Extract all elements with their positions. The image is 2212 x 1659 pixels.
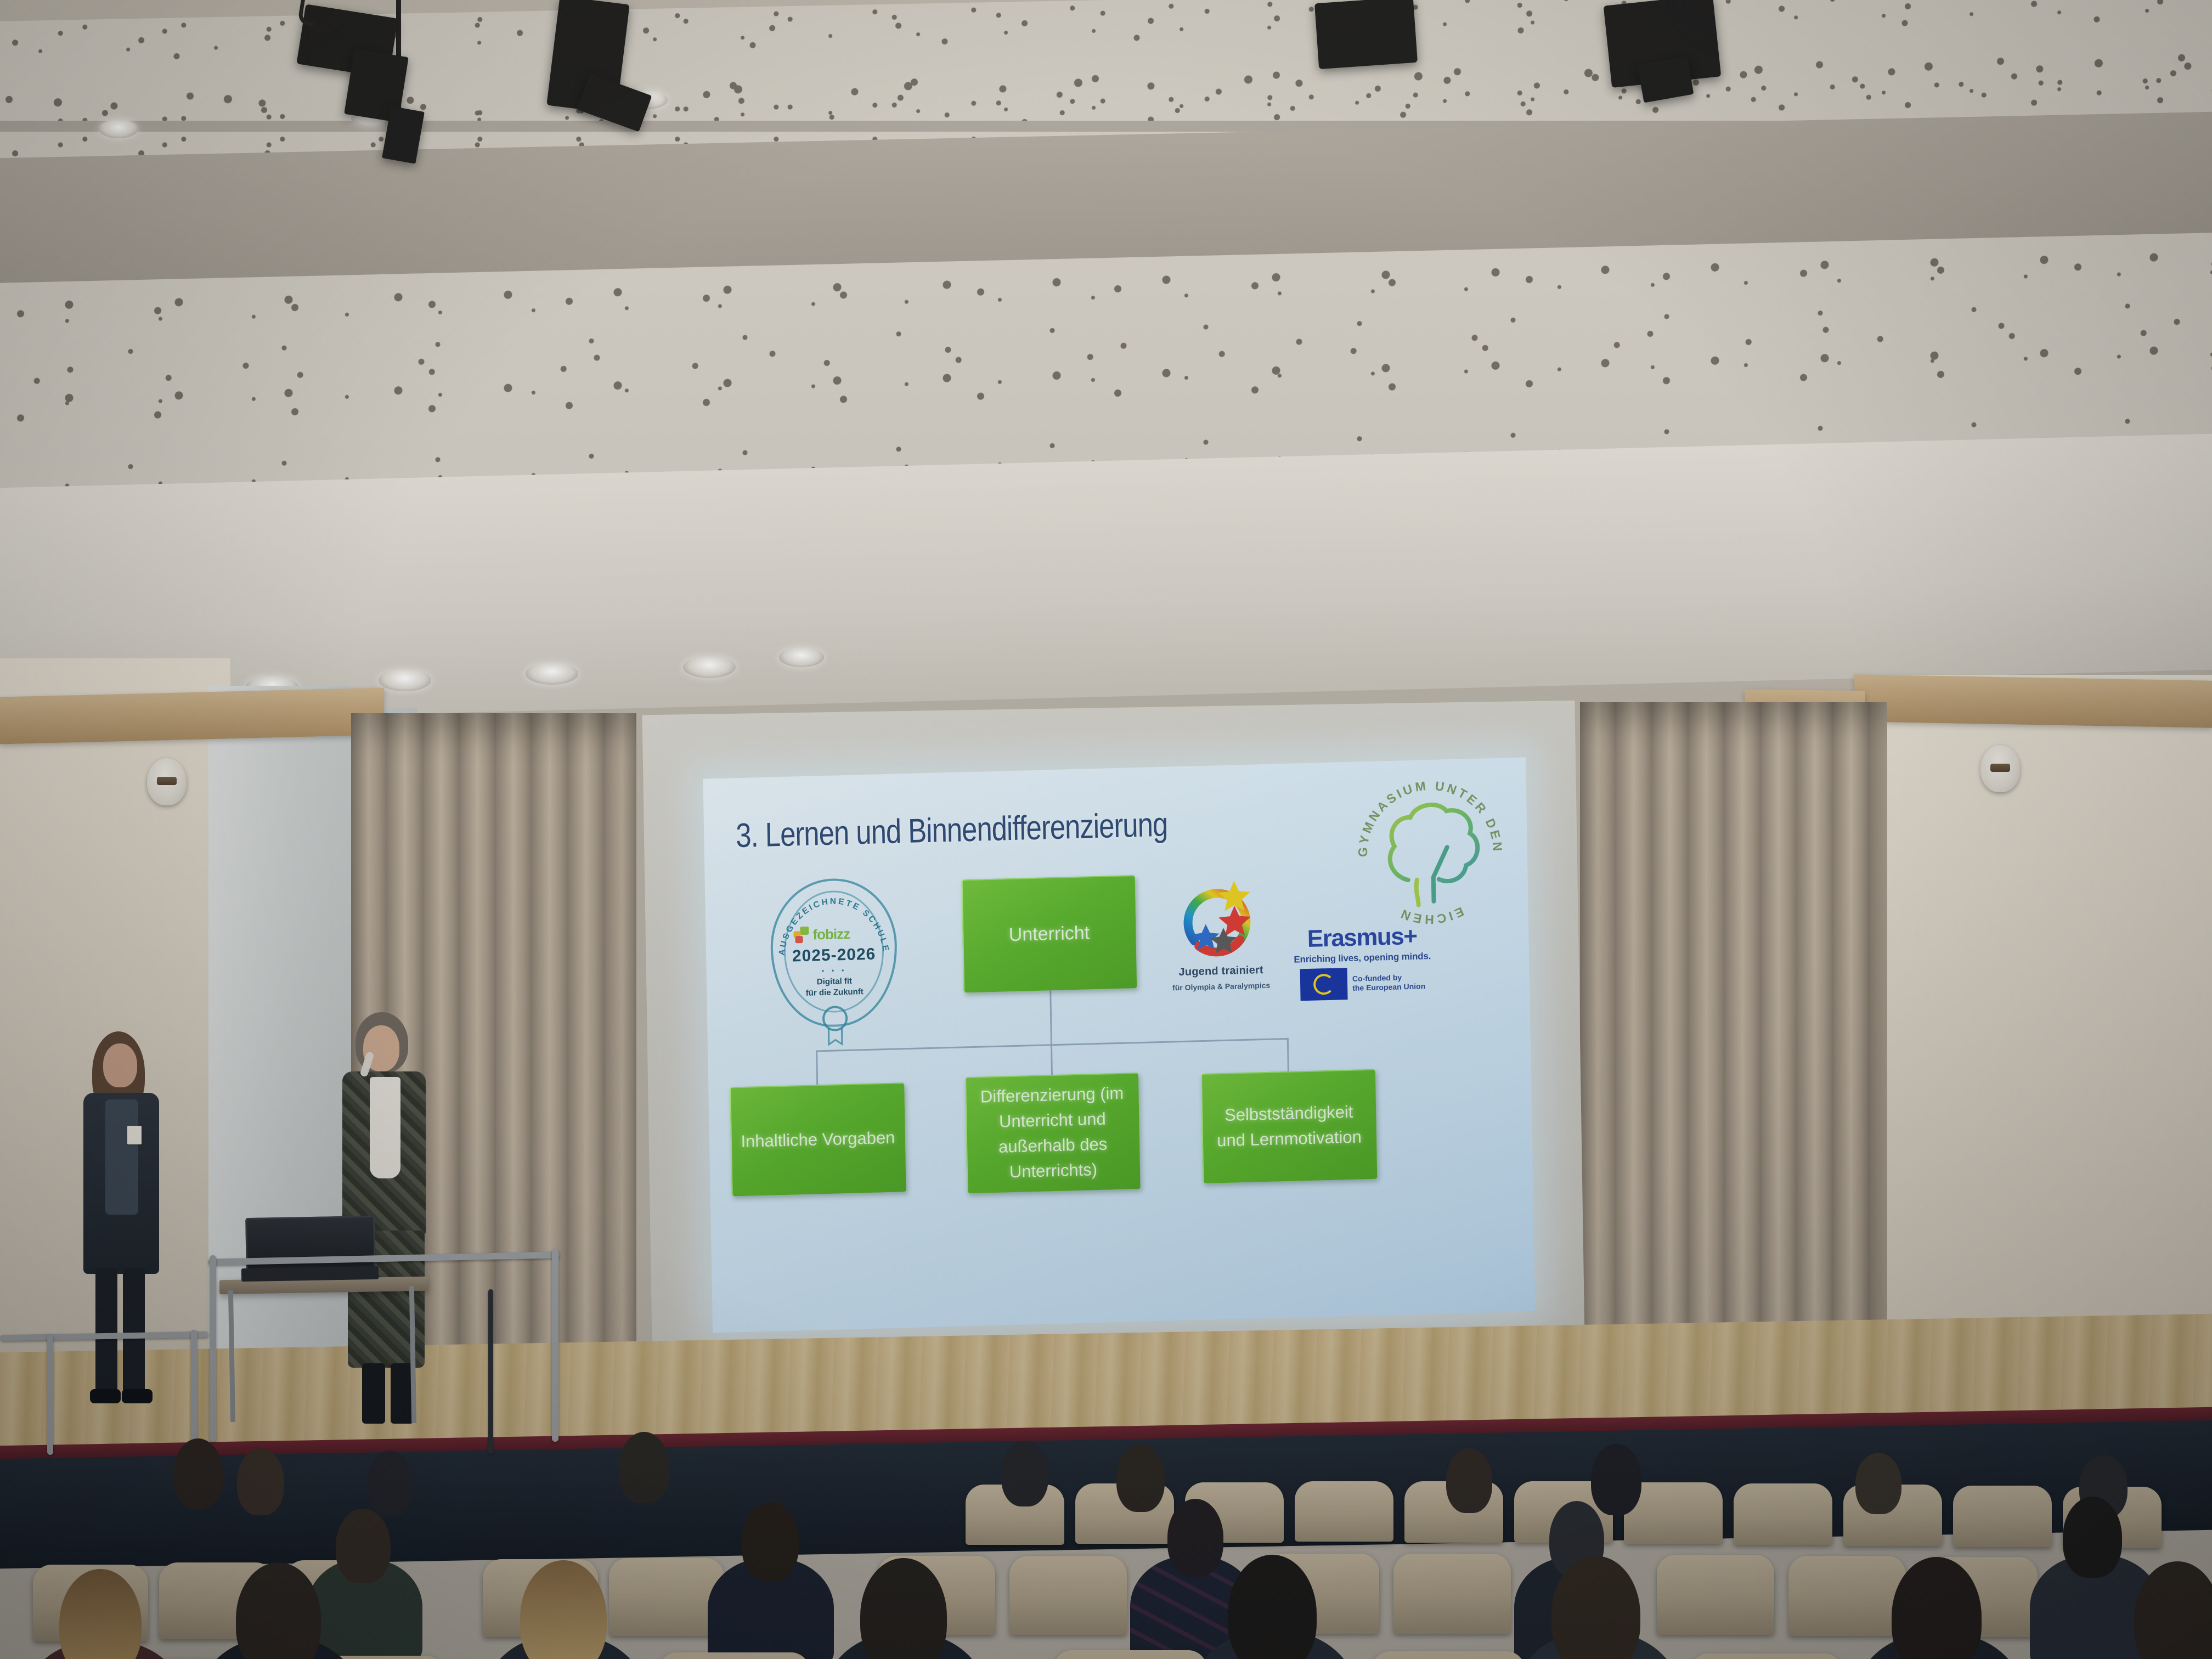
- jugend-trainiert-line2: für Olympia & Paralympics: [1172, 981, 1271, 992]
- stage-curtain-right: [1580, 702, 1887, 1388]
- tree-trunk-icon: [1433, 847, 1448, 901]
- auditorium-presentation-photo: 3. Lernen und Binnendifferenzierung Unte…: [0, 0, 2212, 1659]
- auditorium-seat: [1295, 1481, 1393, 1542]
- downlight-icon: [99, 120, 138, 138]
- box-inhaltliche-vorgaben: Inhaltliche Vorgaben: [730, 1082, 906, 1196]
- laptop-keyboard: [241, 1266, 379, 1282]
- audience-head: [1855, 1453, 1901, 1514]
- presenter-shirt: [105, 1099, 138, 1215]
- presenter-name-badge: [127, 1126, 142, 1144]
- badge-tagline: Digital fit für die Zukunft: [771, 975, 898, 1001]
- tree-branch-icon: [1416, 880, 1418, 905]
- tree-canopy-icon: [1389, 804, 1478, 883]
- connector-drop-right: [1287, 1038, 1289, 1071]
- audience-area: [0, 1404, 2212, 1659]
- school-logo-gymnasium-unter-den-eichen: GYMNASIUM UNTER DEN EICHEN: [1349, 768, 1511, 931]
- erasmus-wordmark: Erasmus+: [1279, 922, 1444, 953]
- audience-head: [742, 1502, 799, 1581]
- audience-head: [1591, 1444, 1641, 1515]
- connector-vertical-root: [1049, 990, 1052, 1045]
- audience-head: [173, 1438, 223, 1509]
- auditorium-seat: [1953, 1486, 2052, 1547]
- jugend-trainiert-swirl-icon: [1170, 873, 1271, 969]
- box-differenzierung: Differenzierung (im Unterricht und außer…: [965, 1073, 1141, 1193]
- eu-line2: the European Union: [1352, 981, 1425, 992]
- badge-years: 2025-2026: [771, 945, 898, 967]
- fobizz-wordmark: fobizz: [812, 925, 850, 943]
- connector-drop-left: [816, 1050, 818, 1085]
- presenter-leg-right: [123, 1268, 145, 1395]
- box-selbststaendigkeit: Selbstständigkeit und Lernmotivation: [1201, 1069, 1377, 1183]
- downlight-icon: [683, 656, 736, 678]
- box-unterricht: Unterricht: [962, 875, 1137, 992]
- presenter-shoe-left: [90, 1389, 121, 1403]
- audience-head: [1446, 1448, 1492, 1513]
- badge-tagline-line2: für die Zukunft: [806, 987, 864, 998]
- downlight-icon: [779, 647, 824, 667]
- auditorium-seat: [658, 1652, 810, 1659]
- erasmus-plus-logo: Erasmus+ Enriching lives, opening minds.…: [1279, 922, 1445, 1003]
- audience-head: [237, 1448, 284, 1515]
- presenter-shoe-right: [122, 1389, 153, 1403]
- downlight-icon: [526, 663, 578, 685]
- audience-head: [1001, 1441, 1048, 1506]
- auditorium-seat: [1393, 1554, 1511, 1634]
- fobizz-mark-icon: [793, 927, 810, 944]
- presentation-slide: 3. Lernen und Binnendifferenzierung Unte…: [703, 757, 1535, 1333]
- auditorium-seat: [1788, 1556, 1906, 1636]
- slide-title: 3. Lernen und Binnendifferenzierung: [736, 805, 1168, 856]
- auditorium-seat: [1372, 1651, 1525, 1659]
- auditorium-seat: [1734, 1483, 1832, 1545]
- eu-cofunding-text: Co-funded by the European Union: [1352, 972, 1426, 993]
- presenter-leg-left: [95, 1268, 117, 1395]
- auditorium-seat: [1053, 1650, 1207, 1659]
- audience-head: [368, 1451, 413, 1516]
- presenter-head: [103, 1043, 137, 1087]
- auditorium-seat: [1690, 1654, 1843, 1659]
- stage-light-icon: [1314, 0, 1418, 69]
- badge-tagline-line1: Digital fit: [817, 977, 852, 987]
- school-arc-top: GYMNASIUM UNTER DEN: [1354, 776, 1505, 857]
- fobizz-logo: fobizz: [793, 924, 874, 945]
- audience-head: [2063, 1497, 2122, 1578]
- audience-head: [336, 1509, 391, 1583]
- presenter2-blouse: [370, 1077, 400, 1178]
- audience-head: [1167, 1499, 1223, 1577]
- jugend-trainiert-line1: Jugend trainiert: [1172, 964, 1271, 979]
- fobizz-award-badge: AUSGEZEICHNETE SCHULE fobizz 2025-2026 •…: [770, 877, 899, 1029]
- badge-ribbon-icon: [826, 1028, 844, 1047]
- auditorium-seat: [609, 1558, 724, 1636]
- downlight-icon: [379, 669, 431, 691]
- audience-head: [619, 1432, 669, 1503]
- wall-speaker-icon: [1980, 745, 2020, 792]
- wall-speaker-icon: [147, 758, 187, 805]
- wood-trim-left: [0, 687, 384, 744]
- audience-head: [1116, 1444, 1165, 1512]
- eu-cofunding-block: Co-funded by the European Union: [1280, 965, 1446, 1001]
- auditorium-seat: [1657, 1555, 1774, 1635]
- wood-trim-right: [1854, 674, 2212, 727]
- wall-right: [1887, 675, 2212, 1388]
- eu-flag-icon: [1300, 968, 1348, 1001]
- eu-line1: Co-funded by: [1352, 973, 1402, 983]
- connector-drop-center: [1051, 1044, 1053, 1075]
- auditorium-seat: [1009, 1556, 1127, 1635]
- jugend-trainiert-logo: Jugend trainiert für Olympia & Paralympi…: [1170, 873, 1271, 999]
